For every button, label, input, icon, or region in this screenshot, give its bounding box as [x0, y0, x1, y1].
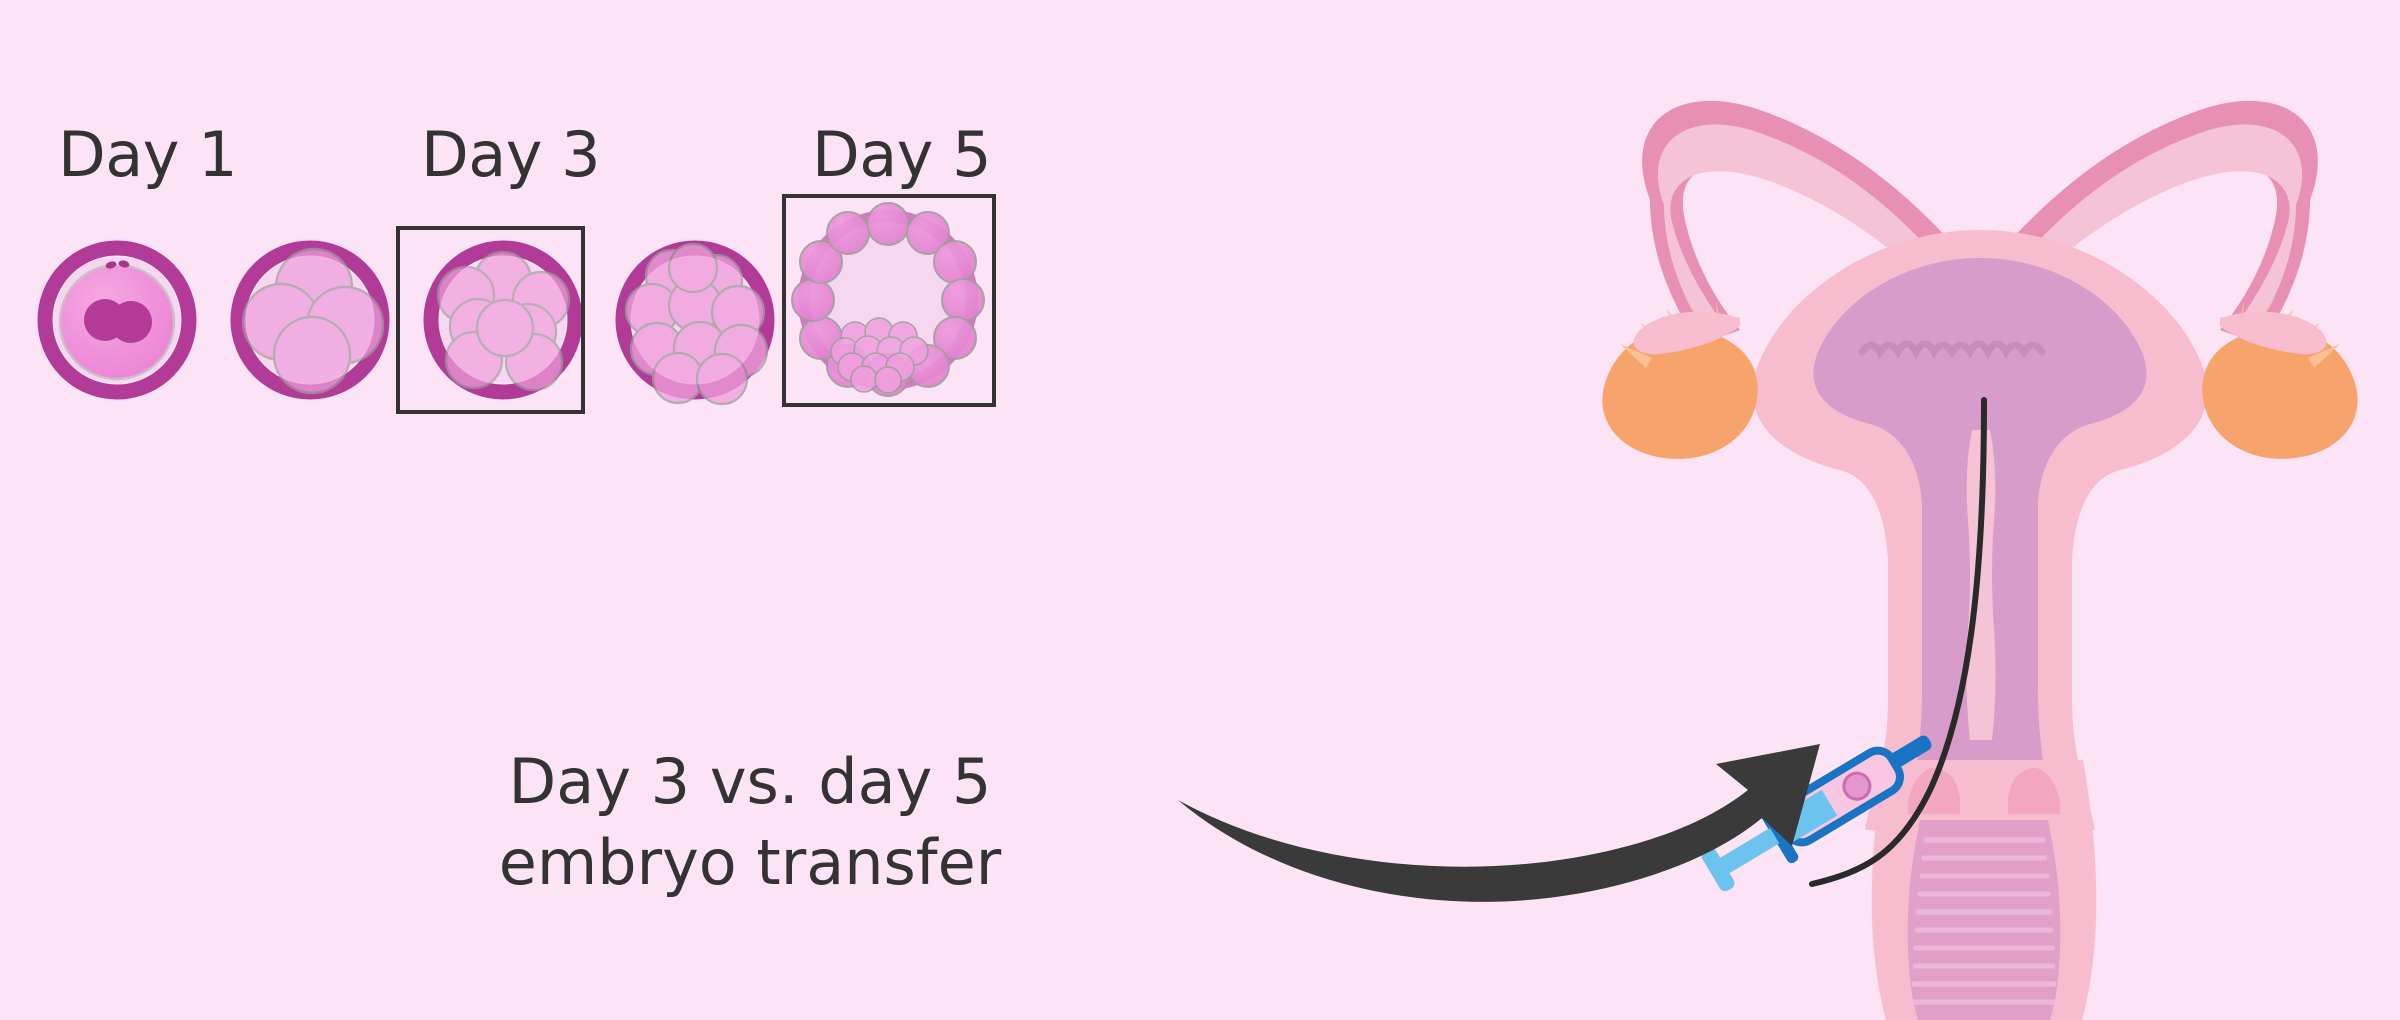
- caption-line-1: Day 3 vs. day 5: [420, 742, 1080, 823]
- illustration-canvas: Day 1 Day 3 Day 5: [0, 0, 2400, 1020]
- arrow-shape: [1178, 744, 1820, 902]
- transfer-arrow: [0, 0, 2400, 1020]
- caption-line-2: embryo transfer: [420, 823, 1080, 904]
- figure-caption: Day 3 vs. day 5 embryo transfer: [420, 742, 1080, 903]
